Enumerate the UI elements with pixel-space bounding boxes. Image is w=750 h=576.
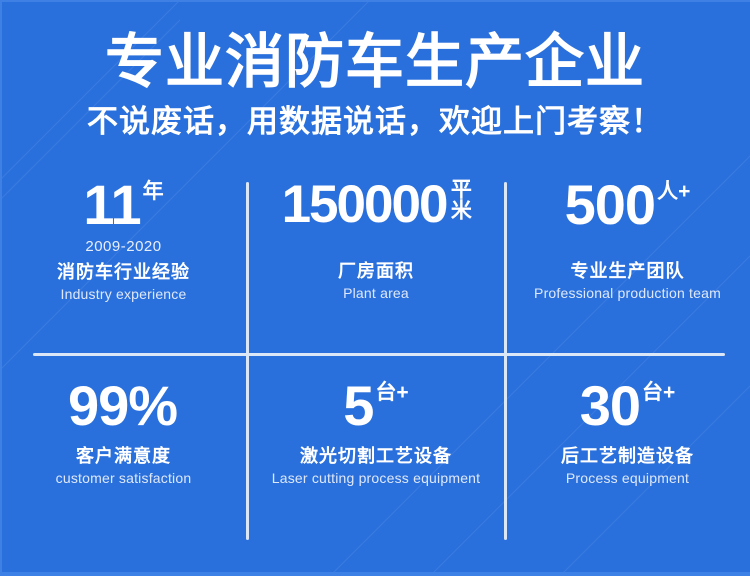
stat-label-cn: 消防车行业经验 bbox=[57, 260, 190, 284]
stat-unit: 年 bbox=[143, 175, 164, 203]
stat-number: 5 bbox=[343, 376, 373, 436]
stat-range: 2009-2020 bbox=[85, 237, 161, 257]
stat-label-en: Process equipment bbox=[566, 469, 689, 488]
stat-label-en: Industry experience bbox=[61, 285, 187, 304]
stat-cell-production-team: 500 人+ 专业生产团队 Professional production te… bbox=[505, 175, 750, 354]
stat-cell-laser-cutting-equipment: 5 台+ 激光切割工艺设备 Laser cutting process equi… bbox=[247, 354, 505, 550]
stat-unit: 台+ bbox=[642, 376, 675, 404]
edge-highlight-bottom bbox=[0, 572, 750, 576]
stat-unit: 平米 bbox=[448, 175, 470, 220]
stat-label-cn: 客户满意度 bbox=[76, 444, 171, 468]
stat-label-cn: 激光切割工艺设备 bbox=[300, 444, 452, 468]
stat-unit: 台+ bbox=[375, 376, 408, 404]
stat-label-en: Plant area bbox=[343, 284, 409, 303]
page-subtitle: 不说废话，用数据说话，欢迎上门考察！ bbox=[0, 96, 750, 142]
stat-unit: 人+ bbox=[657, 175, 690, 203]
stat-label-cn: 专业生产团队 bbox=[571, 259, 685, 283]
stat-value-row: 150000 平米 bbox=[282, 175, 471, 235]
stat-cell-plant-area: 150000 平米 厂房面积 Plant area bbox=[247, 175, 505, 354]
stat-cell-customer-satisfaction: 99% 客户满意度 customer satisfaction bbox=[0, 354, 247, 550]
banner-header: 专业消防车生产企业 不说废话，用数据说话，欢迎上门考察！ bbox=[0, 0, 750, 142]
stat-value-row: 5 台+ bbox=[343, 376, 408, 436]
stat-number: 30 bbox=[580, 376, 640, 436]
stat-label-cn: 后工艺制造设备 bbox=[561, 444, 694, 468]
stat-value-row: 500 人+ bbox=[565, 175, 691, 235]
stat-cell-industry-experience: 11 年 2009-2020 消防车行业经验 Industry experien… bbox=[0, 175, 247, 354]
stat-value-row: 11 年 bbox=[83, 175, 163, 235]
stat-value-row: 99% bbox=[68, 376, 179, 436]
page-title: 专业消防车生产企业 bbox=[0, 0, 750, 96]
promo-banner: 专业消防车生产企业 不说废话，用数据说话，欢迎上门考察！ 11 年 2009-2… bbox=[0, 0, 750, 576]
stat-label-en: Laser cutting process equipment bbox=[272, 469, 481, 488]
stat-cell-process-equipment: 30 台+ 后工艺制造设备 Process equipment bbox=[505, 354, 750, 550]
stat-label-en: customer satisfaction bbox=[56, 469, 192, 488]
stat-number: 500 bbox=[565, 175, 655, 235]
stats-grid: 11 年 2009-2020 消防车行业经验 Industry experien… bbox=[0, 175, 750, 550]
stat-label-en: Professional production team bbox=[534, 284, 721, 303]
stat-number: 11 bbox=[83, 175, 140, 235]
stat-value-row: 30 台+ bbox=[580, 376, 676, 436]
stat-number: 150000 bbox=[282, 175, 447, 235]
stat-number: 99% bbox=[68, 376, 177, 436]
stat-label-cn: 厂房面积 bbox=[338, 259, 414, 283]
